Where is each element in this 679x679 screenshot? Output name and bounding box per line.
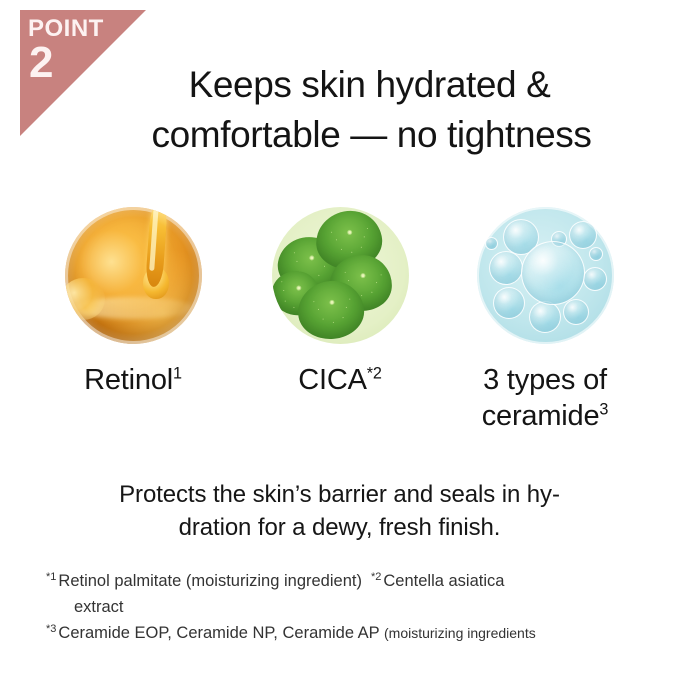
- ingredient-label-ceramide: 3 types of ceramide3: [461, 362, 629, 434]
- ingredient-name-ceramide-line2: ceramide: [482, 400, 600, 432]
- footnote-marker-2: *2: [367, 364, 382, 382]
- water-bubble-shape: [489, 251, 523, 285]
- body-line-2: dration for a dewy, fresh finish.: [0, 511, 679, 544]
- cica-leaf-icon: [272, 207, 409, 344]
- headline-line-1: Keeps skin hydrated &: [60, 60, 679, 110]
- ingredient-label-retinol: Retinol1: [49, 362, 217, 398]
- footnote-text-3: Ceramide EOP, Ceramide NP, Ceramide AP: [58, 624, 379, 642]
- ingredient-item-cica: CICA*2: [256, 207, 424, 398]
- ingredient-label-cica: CICA*2: [256, 362, 424, 398]
- footnote-mark-2: *2: [371, 571, 381, 583]
- footnote-text-3-tail: (moisturizing ingredients: [384, 625, 536, 641]
- water-bubble-shape: [485, 237, 498, 250]
- footnote-marker-3: 3: [599, 400, 608, 418]
- body-description: Protects the skin’s barrier and seals in…: [0, 478, 679, 544]
- ingredient-name-ceramide-line1: 3 types of: [483, 364, 607, 396]
- footnote-mark-3: *3: [46, 623, 56, 635]
- footnote-text-2-continued: extract: [74, 598, 124, 616]
- footnote-mark-1: *1: [46, 571, 56, 583]
- footnote-text-2: Centella asiatica: [383, 572, 504, 590]
- ingredient-name-retinol: Retinol: [84, 364, 173, 396]
- oil-glass-rim: [65, 207, 202, 344]
- footnote-marker-1: 1: [173, 364, 182, 382]
- ingredient-list: Retinol1 CICA*2: [0, 207, 679, 469]
- page-title: Keeps skin hydrated & comfortable — no t…: [0, 60, 679, 160]
- ingredient-name-cica: CICA: [298, 364, 367, 396]
- water-bubble-main-shape: [521, 241, 585, 305]
- water-bubble-shape: [493, 287, 525, 319]
- retinol-oil-icon: [65, 207, 202, 344]
- ceramide-bubbles-icon: [477, 207, 614, 344]
- footnote-text-1: Retinol palmitate (moisturizing ingredie…: [58, 572, 362, 590]
- footnote-row-1: *1Retinol palmitate (moisturizing ingred…: [46, 568, 679, 594]
- footnote-row-2: extract: [46, 594, 679, 620]
- water-bubble-shape: [563, 299, 589, 325]
- ingredient-item-ceramide: 3 types of ceramide3: [461, 207, 629, 434]
- headline-line-2: comfortable — no tightness: [60, 110, 679, 160]
- promo-graphic: POINT 2 Keeps skin hydrated & comfortabl…: [0, 0, 679, 679]
- footnote-block: *1Retinol palmitate (moisturizing ingred…: [46, 568, 679, 646]
- water-bubble-shape: [583, 267, 607, 291]
- water-bubble-shape: [589, 247, 603, 261]
- water-bubble-shape: [569, 221, 597, 249]
- ingredient-item-retinol: Retinol1: [49, 207, 217, 398]
- body-line-1: Protects the skin’s barrier and seals in…: [0, 478, 679, 511]
- footnote-row-3: *3Ceramide EOP, Ceramide NP, Ceramide AP…: [46, 620, 679, 646]
- water-bubble-shape: [529, 301, 561, 333]
